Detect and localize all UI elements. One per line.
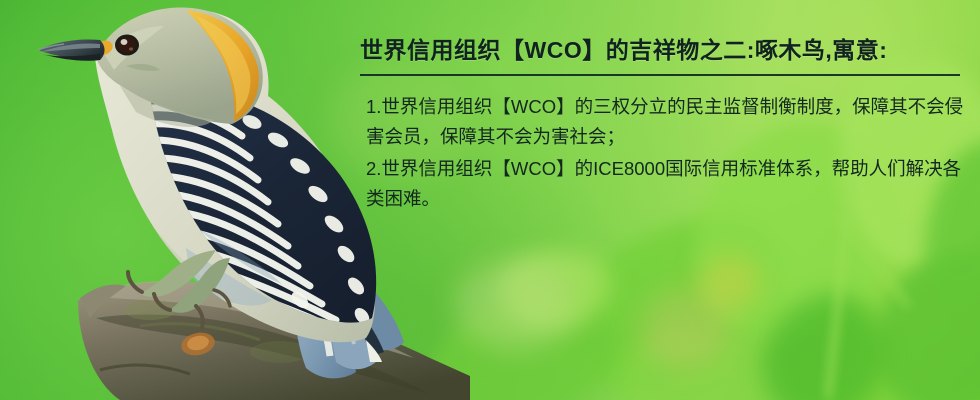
bird-beak: [38, 39, 105, 60]
title-divider: [360, 74, 960, 76]
bird-head: [38, 7, 263, 127]
list-item: 2.世界信用组织【WCO】的ICE8000国际信用标准体系，帮助人们解决各类困难…: [366, 154, 971, 214]
mascot-meaning-list: 1.世界信用组织【WCO】的三权分立的民主监督制衡制度，保障其不会侵害会员，保障…: [366, 92, 971, 214]
page-title: 世界信用组织【WCO】的吉祥物之二:啄木鸟,寓意:: [360, 31, 887, 65]
background-bokeh: [700, 255, 760, 310]
wco-mascot-banner: 世界信用组织【WCO】的吉祥物之二:啄木鸟,寓意: 1.世界信用组织【WCO】的…: [0, 0, 980, 400]
list-item: 1.世界信用组织【WCO】的三权分立的民主监督制衡制度，保障其不会侵害会员，保障…: [366, 92, 971, 152]
background-bokeh: [455, 260, 575, 350]
bird-eye: [115, 35, 139, 56]
